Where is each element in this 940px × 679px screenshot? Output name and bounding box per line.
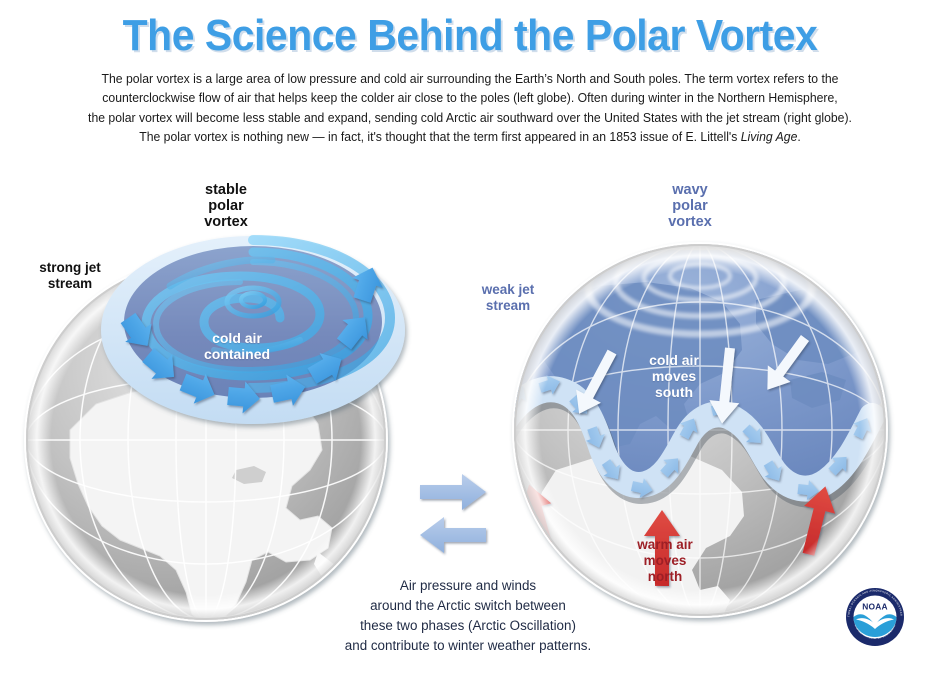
caption-line-1: Air pressure and winds — [318, 576, 618, 596]
strong-jet-line-2: stream — [22, 276, 118, 292]
cold-south-line-2: moves — [632, 368, 716, 384]
phase-exchange-arrows — [420, 474, 486, 553]
warm-north-line-3: north — [625, 569, 705, 585]
left-title-line-3: vortex — [178, 214, 274, 230]
left-globe-group — [24, 236, 405, 626]
noaa-logo: NATIONAL OCEANIC AND ATMOSPHERIC ADMINIS… — [842, 584, 908, 650]
right-title-line-2: polar — [645, 198, 735, 214]
cold-contained-line-2: contained — [182, 346, 292, 362]
cold-air-contained-label: cold air contained — [182, 330, 292, 362]
bottom-caption: Air pressure and winds around the Arctic… — [318, 576, 618, 656]
strong-jet-stream-label: strong jet stream — [22, 260, 118, 292]
left-title-line-1: stable — [178, 182, 274, 198]
right-title-line-3: vortex — [645, 214, 735, 230]
noaa-acronym: NOAA — [862, 602, 887, 612]
infographic-canvas: The Science Behind the Polar Vortex The … — [0, 0, 940, 679]
right-title-line-1: wavy — [645, 182, 735, 198]
arrow-right-icon — [420, 474, 486, 510]
weak-jet-line-2: stream — [462, 298, 554, 314]
caption-line-4: and contribute to winter weather pattern… — [318, 636, 618, 656]
left-title-line-2: polar — [178, 198, 274, 214]
warm-north-line-2: moves — [625, 553, 705, 569]
cold-air-moves-south-label: cold air moves south — [632, 352, 716, 400]
caption-line-3: these two phases (Arctic Oscillation) — [318, 616, 618, 636]
right-globe-title: wavy polar vortex — [645, 182, 735, 230]
cold-contained-line-1: cold air — [182, 330, 292, 346]
caption-line-2: around the Arctic switch between — [318, 596, 618, 616]
warm-air-moves-north-label: warm air moves north — [625, 537, 705, 585]
cold-south-line-3: south — [632, 384, 716, 400]
weak-jet-line-1: weak jet — [462, 282, 554, 298]
weak-jet-stream-label: weak jet stream — [462, 282, 554, 314]
warm-north-line-1: warm air — [625, 537, 705, 553]
cold-south-line-1: cold air — [632, 352, 716, 368]
left-globe-title: stable polar vortex — [178, 182, 274, 230]
arrow-left-icon — [420, 517, 486, 553]
strong-jet-line-1: strong jet — [22, 260, 118, 276]
